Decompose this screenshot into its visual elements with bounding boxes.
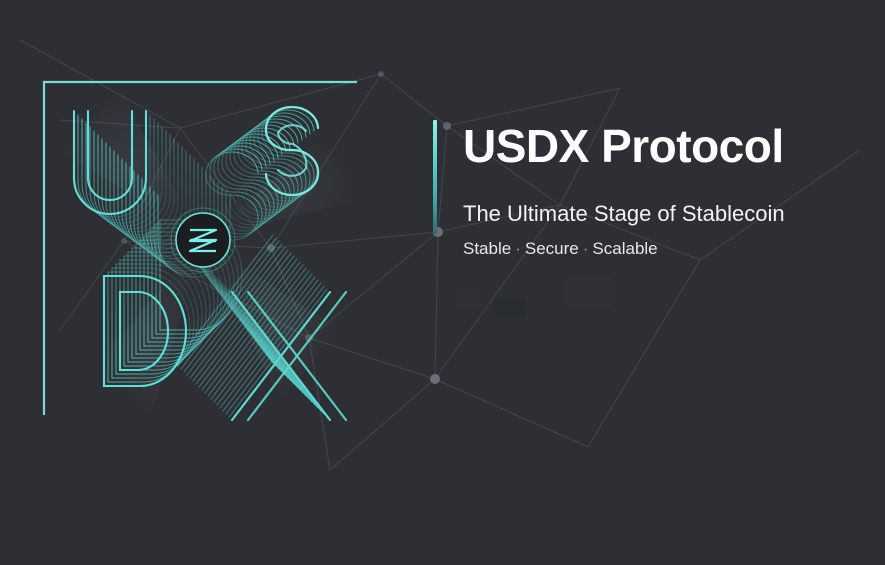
- page-subtitle: The Ultimate Stage of Stablecoin: [463, 200, 785, 228]
- tagline-separator-2: ·: [579, 239, 593, 258]
- tagline-separator-1: ·: [511, 239, 525, 258]
- tagline-item-secure: Secure: [525, 239, 579, 258]
- tagline: Stable·Secure·Scalable: [463, 237, 658, 261]
- ghost-block-2: [566, 277, 614, 307]
- usdx-logo-badge: [171, 208, 235, 272]
- accent-bar: [433, 120, 437, 234]
- tagline-item-stable: Stable: [463, 239, 511, 258]
- ghost-block-3: [457, 288, 481, 308]
- ghost-block-1: [493, 297, 525, 319]
- usdx-monogram-artwork: [0, 0, 420, 500]
- tagline-item-scalable: Scalable: [592, 239, 657, 258]
- hero-banner: USDX Protocol The Ultimate Stage of Stab…: [0, 0, 885, 565]
- page-title: USDX Protocol: [463, 118, 784, 174]
